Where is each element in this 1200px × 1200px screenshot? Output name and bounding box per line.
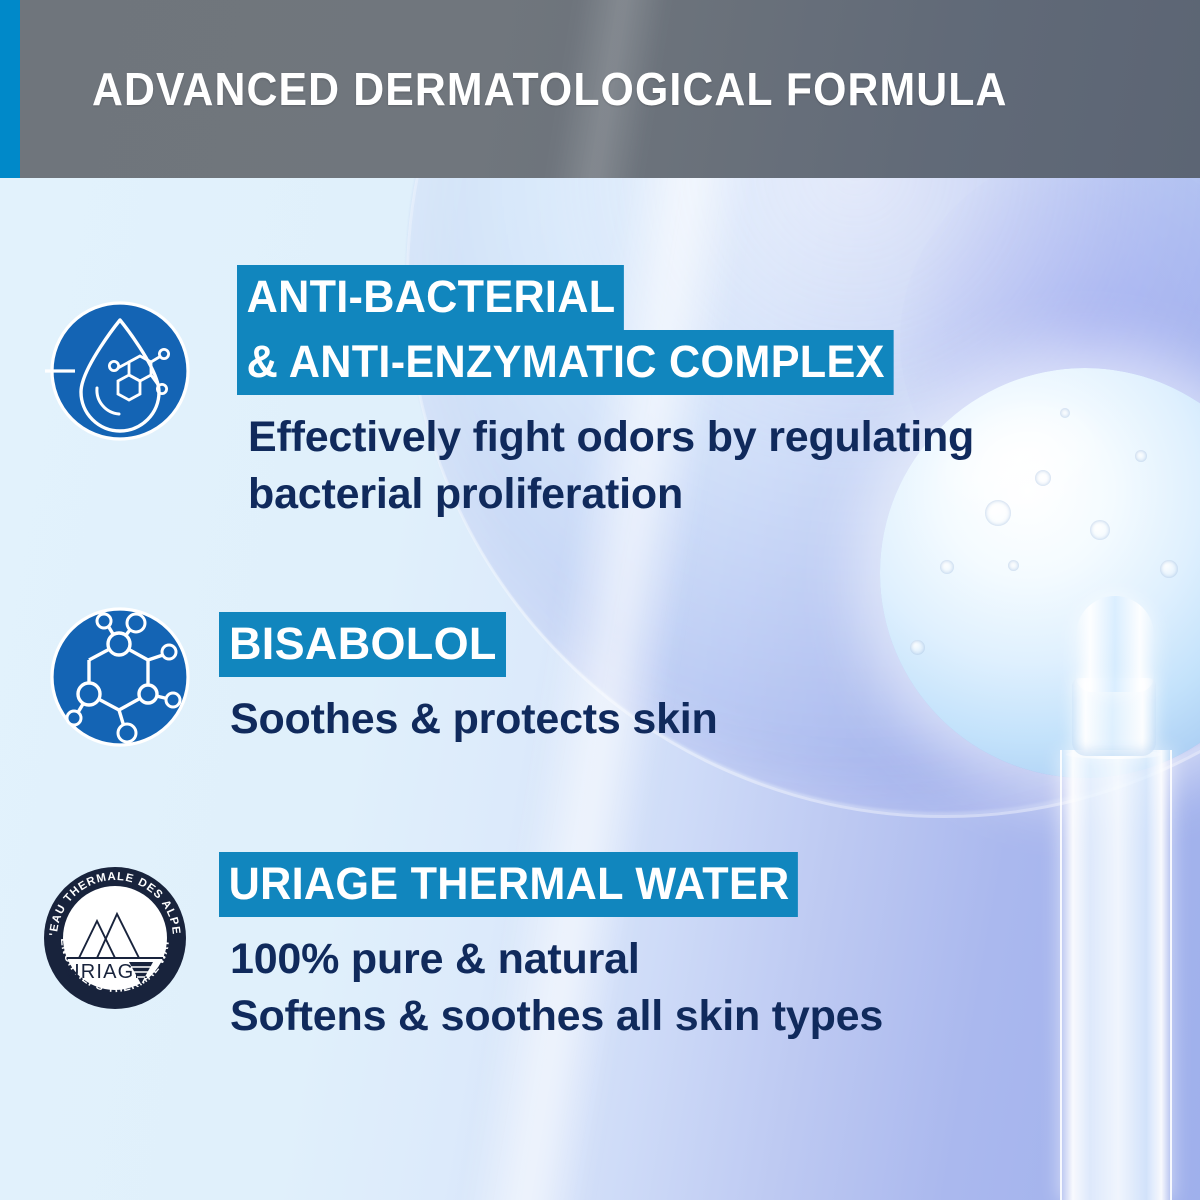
bubble (1160, 560, 1178, 578)
uriage-seal-svg: L'EAU THERMALE DES ALPES FRENCH ALPS THE… (35, 858, 195, 1018)
feature-text-block: ANTI-BACTERIAL & ANTI-ENZYMATIC COMPLEX … (237, 265, 974, 523)
infographic-canvas: ADVANCED DERMATOLOGICAL FORMULA ANTI-B (0, 0, 1200, 1200)
bubble (940, 560, 954, 574)
glass-ampoule (1046, 600, 1182, 1200)
feature-title-line: BISABOLOL (219, 612, 506, 677)
feature-text-block: URIAGE THERMAL WATER 100% pure & natural… (219, 852, 883, 1045)
feature-body-line: Soothes & protects skin (230, 691, 718, 748)
bubble (1090, 520, 1110, 540)
feature-body: 100% pure & natural Softens & soothes al… (230, 931, 883, 1045)
feature-body-line: 100% pure & natural (230, 931, 883, 988)
bubble (1008, 560, 1019, 571)
bubble (985, 500, 1011, 526)
feature-title-line: URIAGE THERMAL WATER (219, 852, 798, 917)
feature-bisabolol: BISABOLOL Soothes & protects skin (219, 612, 718, 748)
droplet-molecule-svg (45, 296, 195, 446)
feature-body-line: Softens & soothes all skin types (230, 988, 883, 1045)
molecule-svg (45, 602, 195, 752)
feature-title-line: & ANTI-ENZYMATIC COMPLEX (237, 330, 893, 395)
molecule-icon (45, 602, 195, 757)
feature-body-line: Effectively fight odors by regulating (248, 409, 974, 466)
header-accent-bar (0, 0, 20, 178)
page-title: ADVANCED DERMATOLOGICAL FORMULA (92, 0, 1008, 178)
uriage-thermal-water-seal-icon: L'EAU THERMALE DES ALPES FRENCH ALPS THE… (35, 858, 195, 1023)
bubble (1135, 450, 1147, 462)
feature-body-line: bacterial proliferation (248, 466, 974, 523)
bubble (1060, 408, 1070, 418)
bubble (910, 640, 925, 655)
feature-body: Soothes & protects skin (230, 691, 718, 748)
feature-uriage-thermal-water: URIAGE THERMAL WATER 100% pure & natural… (219, 852, 883, 1045)
bubble (1035, 470, 1051, 486)
droplet-molecule-icon (45, 296, 195, 451)
feature-anti-bacterial: ANTI-BACTERIAL & ANTI-ENZYMATIC COMPLEX … (237, 265, 974, 523)
feature-body: Effectively fight odors by regulating ba… (248, 409, 974, 523)
ampoule-body (1060, 750, 1172, 1200)
header-band: ADVANCED DERMATOLOGICAL FORMULA (0, 0, 1200, 178)
feature-title-line: ANTI-BACTERIAL (237, 265, 624, 330)
ampoule-head (1076, 596, 1154, 692)
feature-text-block: BISABOLOL Soothes & protects skin (219, 612, 718, 748)
